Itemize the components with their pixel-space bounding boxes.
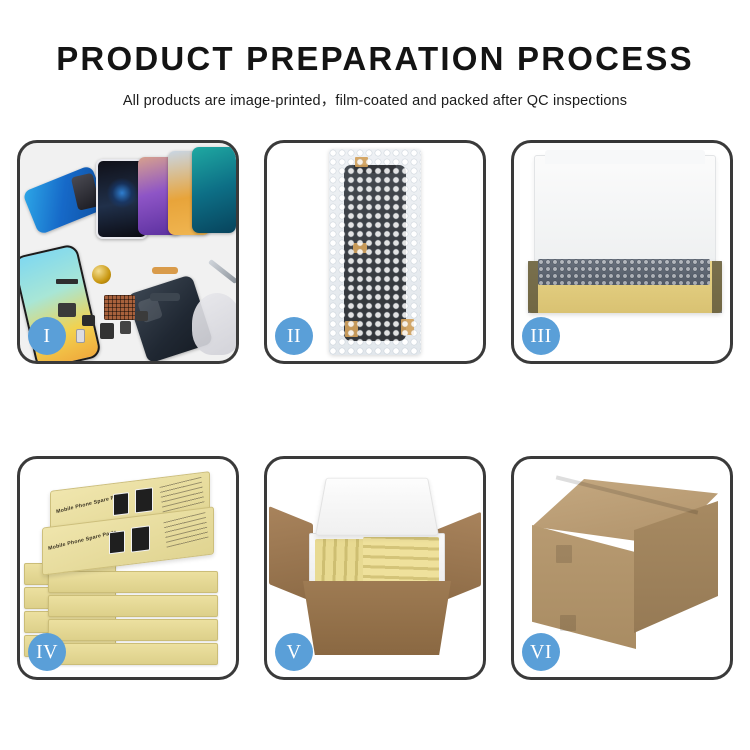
- tape-piece-icon: [401, 319, 414, 335]
- grey-bubble-contents-icon: [538, 259, 710, 285]
- step-badge-1: I: [28, 317, 66, 355]
- step-badge-5: V: [275, 633, 313, 671]
- step-panel-2: II: [264, 140, 486, 364]
- flex-cable-icon: [152, 267, 178, 274]
- step-badge-4: IV: [28, 633, 66, 671]
- box-spec-lines-icon: [164, 512, 209, 548]
- small-component-icon: [76, 329, 85, 343]
- small-component-icon: [58, 303, 76, 317]
- tape-piece-icon: [345, 321, 358, 337]
- page-title: PRODUCT PREPARATION PROCESS: [0, 40, 750, 78]
- small-component-icon: [136, 311, 148, 321]
- carton-tape-icon: [556, 545, 572, 563]
- carton-tape-icon: [560, 615, 576, 631]
- tweezers-icon: [208, 259, 236, 284]
- stacked-box-icon: [48, 571, 218, 593]
- foam-lid-open-icon: [315, 478, 439, 536]
- step-panel-3: III: [511, 140, 733, 364]
- step-panel-1: I: [17, 140, 239, 364]
- chip-grid-icon: [104, 295, 135, 320]
- box-label-text: Mobile Phone Spare Parts: [48, 529, 117, 552]
- tape-piece-icon: [355, 157, 368, 167]
- small-component-icon: [82, 315, 95, 326]
- header: PRODUCT PREPARATION PROCESS All products…: [0, 0, 750, 110]
- yellow-boxes-contents-icon: [363, 537, 439, 585]
- box-phone-image-icon: [135, 487, 153, 513]
- box-phone-image-icon: [131, 525, 150, 552]
- tape-piece-icon: [353, 243, 367, 253]
- product-preparation-infographic: PRODUCT PREPARATION PROCESS All products…: [0, 0, 750, 750]
- page-subtitle: All products are image-printed，film-coat…: [0, 89, 750, 110]
- carton-body-icon: [303, 581, 451, 655]
- box-phone-image-icon: [113, 492, 129, 516]
- steps-grid: I II: [17, 140, 733, 680]
- phone-screen-teal-icon: [192, 147, 236, 233]
- box-edge-icon: [712, 261, 722, 313]
- flex-cable-icon: [150, 293, 180, 301]
- step-panel-4: Mobile Phone Spare Parts Mobile Phone Sp…: [17, 456, 239, 680]
- bubble-wrap-bag-icon: [329, 149, 421, 355]
- copper-coil-icon: [92, 265, 111, 284]
- stacked-box-icon: [48, 619, 218, 641]
- flex-cable-icon: [56, 279, 78, 284]
- small-component-icon: [120, 321, 131, 334]
- box-spec-lines-icon: [160, 477, 205, 513]
- stacked-box-icon: [48, 595, 218, 617]
- small-component-icon: [100, 323, 114, 339]
- wrapped-screen-icon: [344, 165, 406, 341]
- box-edge-icon: [528, 261, 538, 313]
- step-badge-6: VI: [522, 633, 560, 671]
- foam-lid-icon: [534, 155, 716, 267]
- step-panel-6: VI: [511, 456, 733, 680]
- stacked-box-icon: [48, 643, 218, 665]
- step-panel-5: V: [264, 456, 486, 680]
- carton-front-face-icon: [532, 525, 636, 649]
- step-badge-3: III: [522, 317, 560, 355]
- hand-icon: [192, 293, 236, 355]
- step-badge-2: II: [275, 317, 313, 355]
- box-phone-image-icon: [109, 530, 125, 554]
